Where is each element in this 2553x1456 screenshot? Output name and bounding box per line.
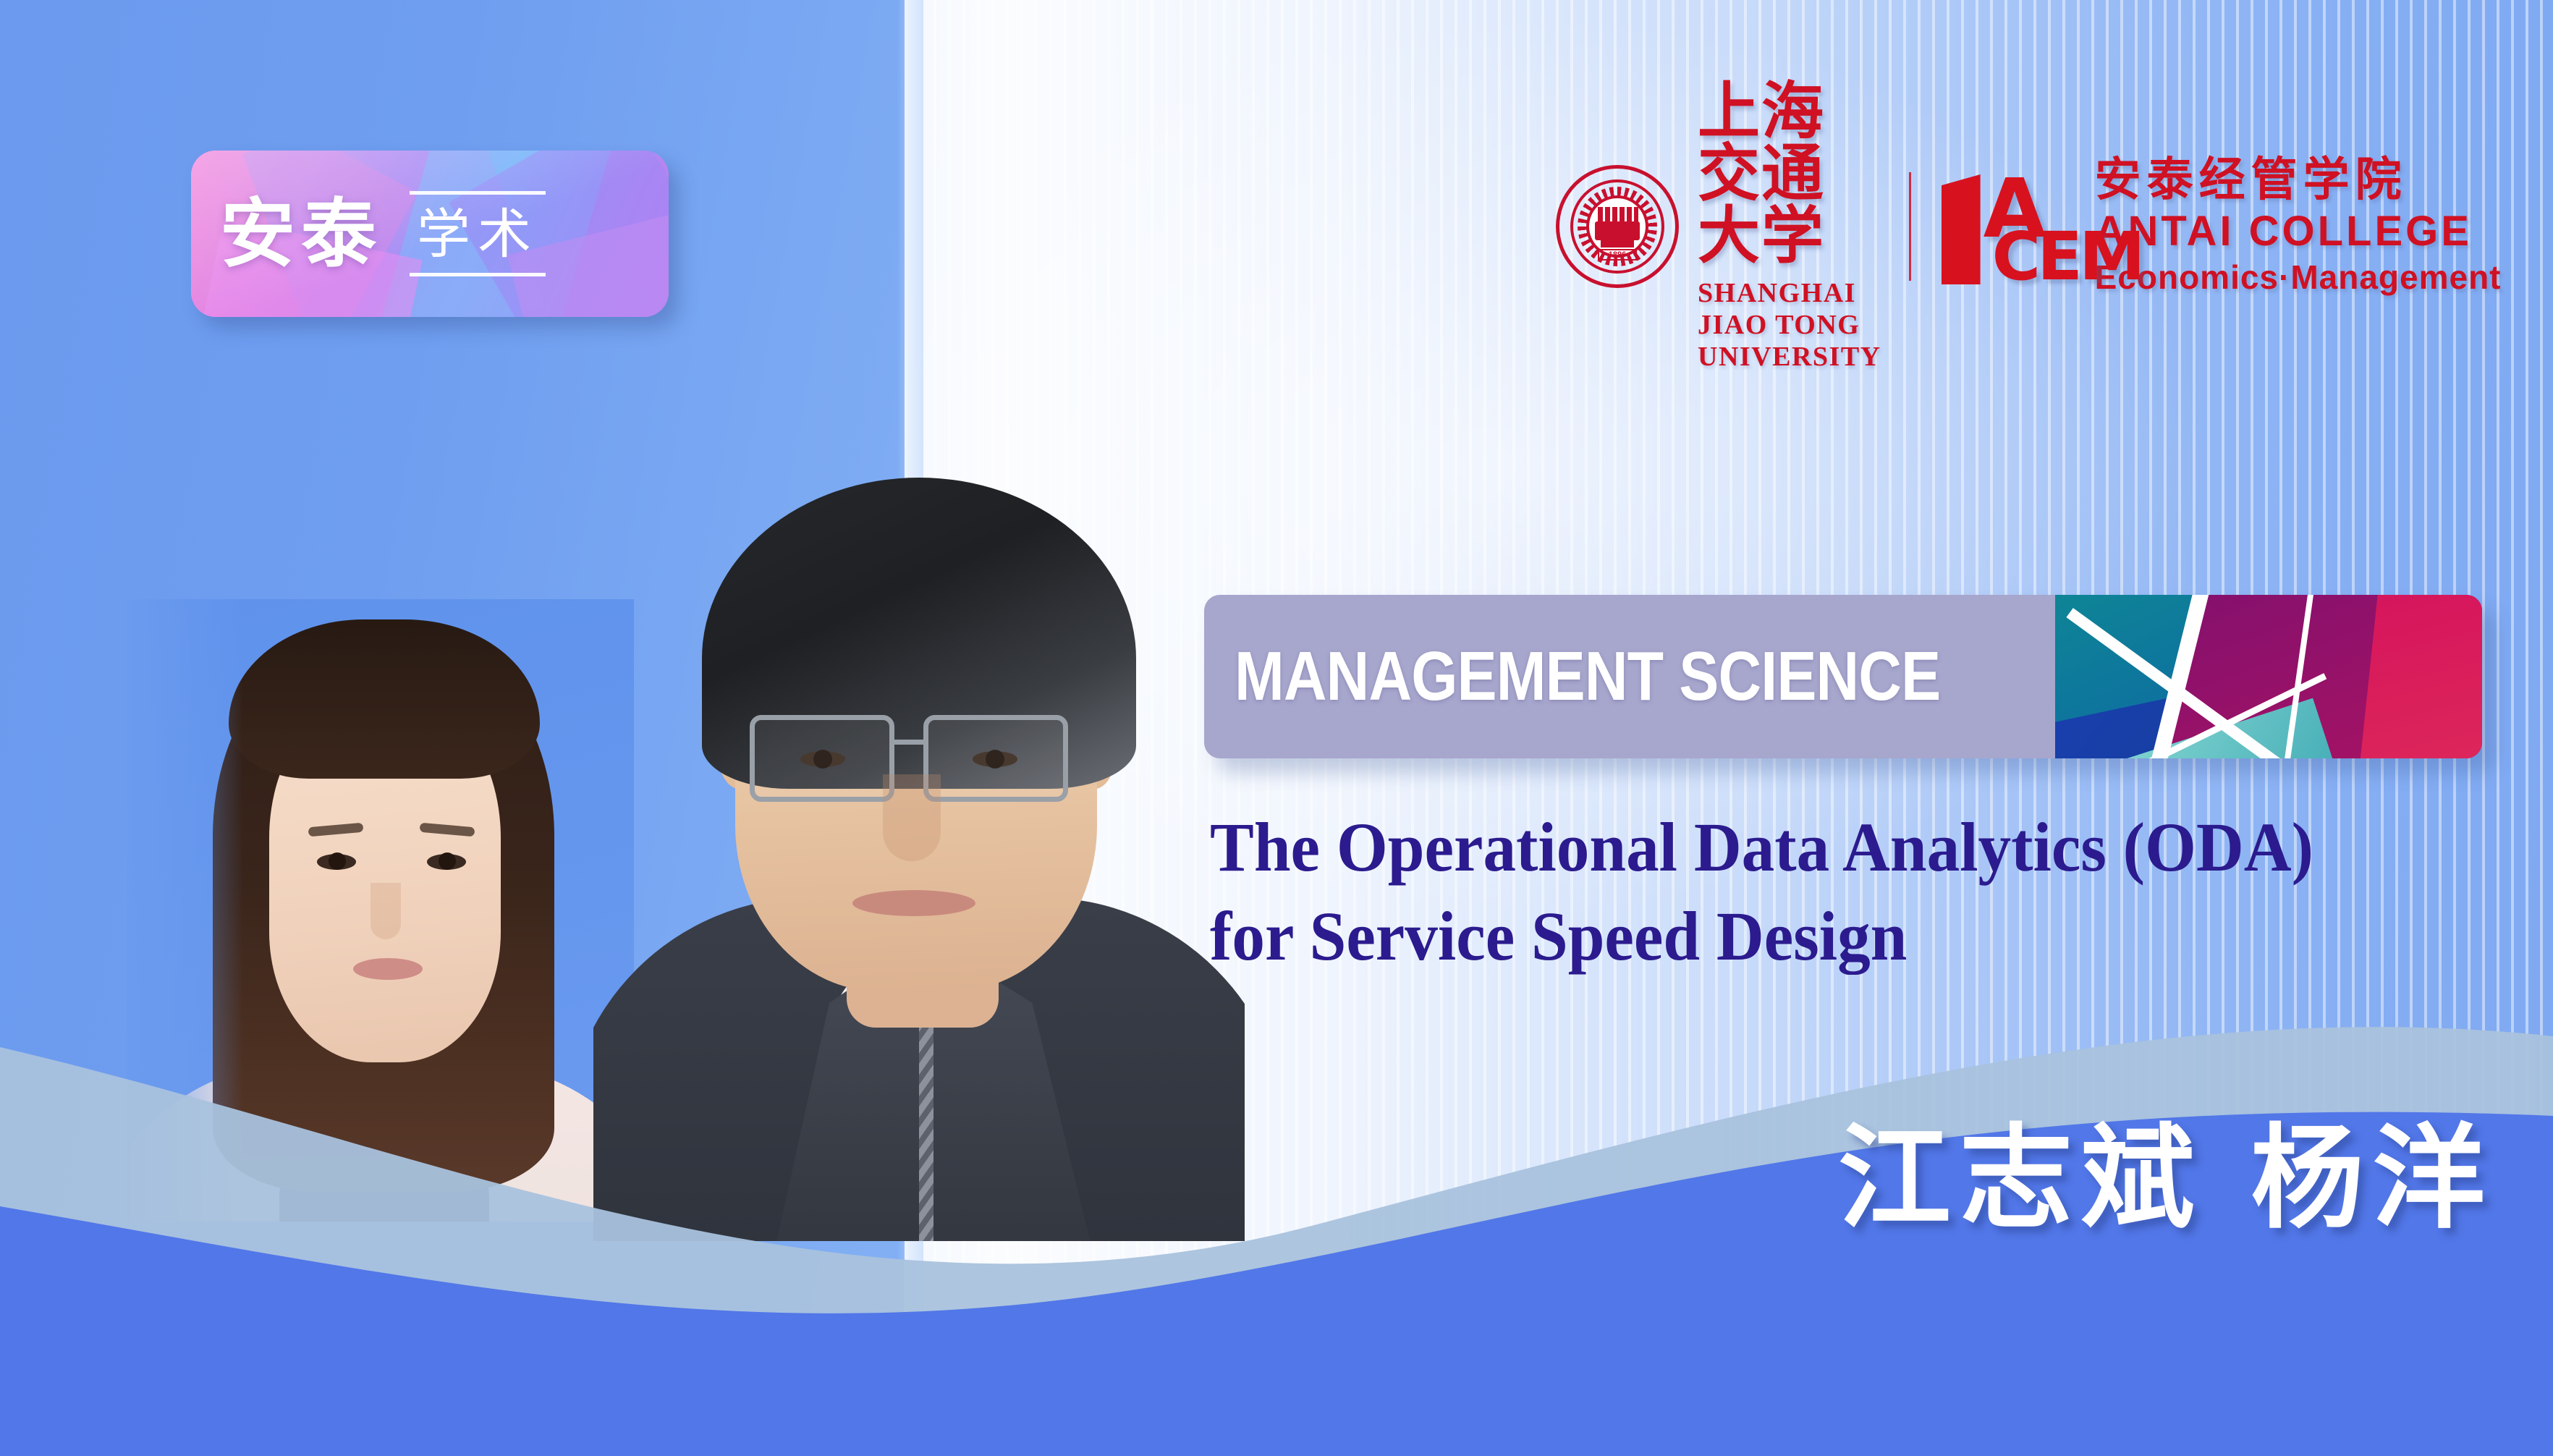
photo-glasses-right [923,715,1068,802]
photo-pupil-left [329,852,346,870]
seal-anvil-icon [1595,221,1640,240]
antai-academic-badge: 安泰 学术 [191,151,669,317]
acem-letters-cem: CEM [1992,224,2142,290]
photo-nose [371,883,401,939]
badge-sub-text: 学术 [410,191,546,276]
university-name-block: 上海交通大学 SHANGHAI JIAO TONG UNIVERSITY [1698,80,1881,373]
photo-glasses-left [750,715,894,802]
university-name-cn: 上海交通大学 [1698,80,1881,267]
college-subtitle: Economics·Management [2095,258,2502,297]
journal-title: MANAGEMENT SCIENCE [1235,637,1940,716]
acem-logo-icon: A CEM [1939,161,2091,292]
college-name-block: 安泰经管学院 ANTAI COLLEGE Economics·Managemen… [2095,156,2502,297]
photo-nose [883,774,941,861]
speaker-names: 江志斌 杨洋 [1838,1122,2494,1235]
sjtu-seal-icon: 1896 [1556,165,1679,288]
talk-title-line-1: The Operational Data Analytics (ODA) [1210,803,2447,892]
talk-title-line-2: for Service Speed Design [1210,892,2447,981]
photo-pupil-right [439,852,456,870]
logo-divider [1909,172,1911,281]
seal-base [1601,240,1634,247]
badge-text-group: 安泰 学术 [191,151,669,317]
photo-mouth [852,890,975,916]
seal-year: 1896 [1598,249,1637,261]
talk-title: The Operational Data Analytics (ODA) for… [1210,803,2512,981]
journal-cover-artwork [2055,595,2482,758]
university-name-en: SHANGHAI JIAO TONG UNIVERSITY [1698,277,1881,373]
promo-poster: 安泰 学术 1896 上海交通大学 SHANGHAI JIAO TONG UNI… [0,0,2553,1456]
journal-name-band: MANAGEMENT SCIENCE [1204,595,2055,758]
university-logo-lockup: 1896 上海交通大学 SHANGHAI JIAO TONG UNIVERSIT… [1556,151,2475,302]
badge-main-text: 安泰 [220,196,382,271]
college-name-cn: 安泰经管学院 [2095,156,2502,205]
photo-mouth [353,958,423,980]
acem-bar-shape [1942,174,1981,284]
photo-glasses-bridge [893,740,928,745]
seal-books-icon [1598,207,1638,223]
college-name-en: ANTAI COLLEGE [2095,208,2502,256]
journal-banner: MANAGEMENT SCIENCE [1204,595,2482,758]
